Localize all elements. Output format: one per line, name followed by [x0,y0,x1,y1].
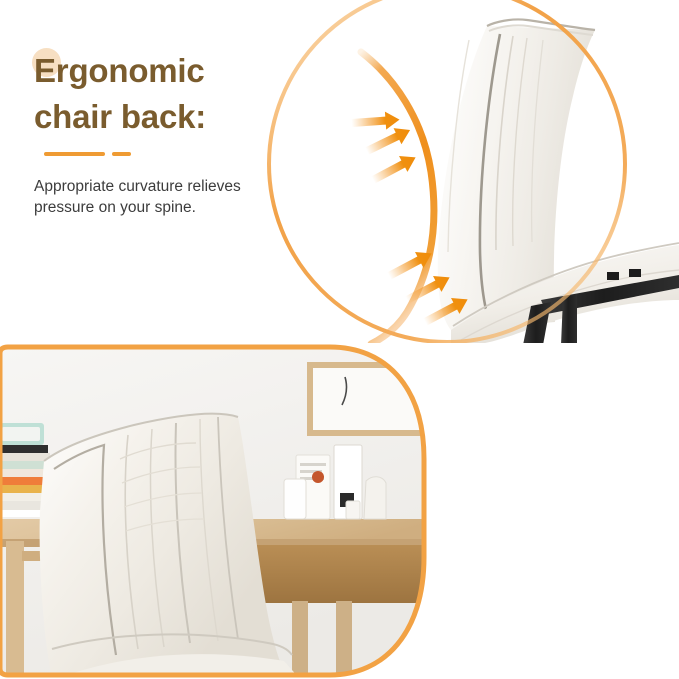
divider-short-bar [112,152,131,156]
product-feature-infographic: Ergonomic chair back: Appropriate curvat… [0,0,679,679]
top-divider [34,152,284,157]
pressure-arrow-group-upper [351,111,420,188]
top-copy-block: Ergonomic chair back: Appropriate curvat… [34,48,284,234]
chair-profile-illustration [255,0,679,345]
wall-picture-frame [310,365,426,433]
ergonomic-chair-photo [255,0,679,345]
pressure-arrow [369,149,420,187]
top-headline-line-2: chair back: [34,98,206,135]
divider-long-bar [44,152,105,156]
desk-scene-illustration [0,343,432,679]
top-body-text: Appropriate curvature relieves pressure … [34,176,249,218]
top-feature-panel: Ergonomic chair back: Appropriate curvat… [0,0,679,345]
pressure-arrow [351,111,400,132]
textured-folds-photo [0,343,432,679]
lumbar-contour-curve [361,52,434,344]
top-headline-line-1: Ergonomic [34,52,205,89]
desk-leg [6,541,24,679]
bottom-feature-panel: Textured folds for a stylish look. [0,343,679,679]
top-headline: Ergonomic chair back: [34,48,284,140]
